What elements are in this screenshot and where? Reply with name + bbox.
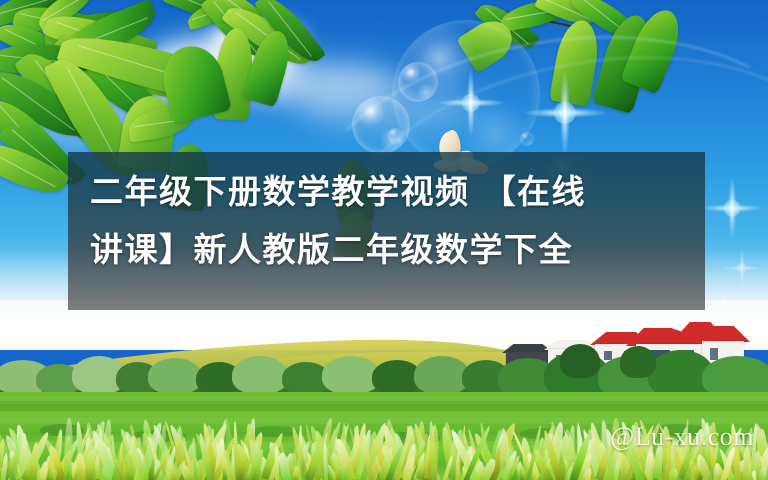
title-caption-panel: 二年级下册数学教学视频 【在线 讲课】新人教版二年级数学下全 xyxy=(68,152,705,310)
site-watermark: @Lu-xu.com xyxy=(610,422,754,452)
treeline-hedge xyxy=(620,346,656,378)
treeline-hedge xyxy=(232,356,288,394)
grass-blade xyxy=(274,446,278,480)
caption-line-1: 二年级下册数学教学视频 【在线 xyxy=(90,162,690,222)
grass-blade xyxy=(759,467,768,480)
treeline-hedge xyxy=(148,358,202,394)
caption-line-2: 讲课】新人教版二年级数学下全 xyxy=(90,220,690,280)
grass-blade xyxy=(97,430,103,480)
image-canvas: 二年级下册数学教学视频 【在线 讲课】新人教版二年级数学下全 @Lu-xu.co… xyxy=(0,0,768,480)
grass-field xyxy=(0,396,768,401)
grass-blade xyxy=(713,463,719,480)
treeline-hedge xyxy=(560,344,600,378)
